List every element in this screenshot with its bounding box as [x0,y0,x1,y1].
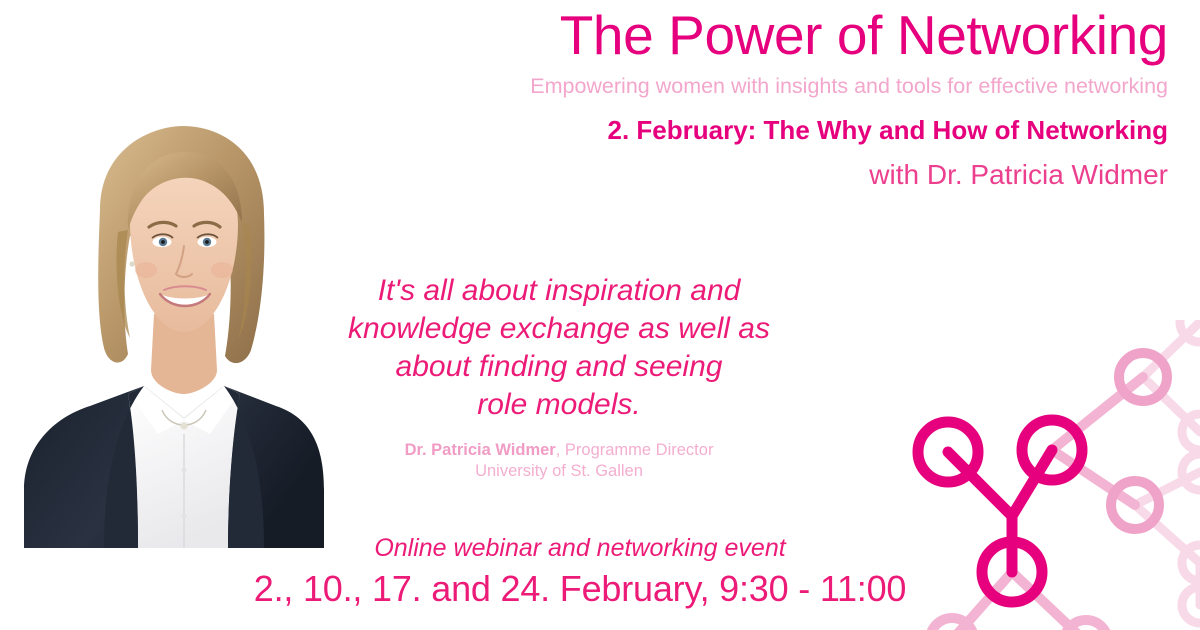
attribution-role: , Programme Director [556,441,714,459]
page-subtitle: Empowering women with insights and tools… [360,71,1168,101]
attribution-org: University of St. Gallen [328,461,790,482]
speaker-line: with Dr. Patricia Widmer [360,156,1168,194]
quote-block: It's all about inspiration and knowledge… [328,272,790,482]
header-block: The Power of Networking Empowering women… [360,4,1168,194]
speaker-portrait: Portrait of Dr. Patricia Widmer [18,118,330,548]
attribution-line-role: Dr. Patricia Widmer, Programme Director [328,440,790,461]
event-format: Online webinar and networking event [232,532,928,564]
quote-line: knowledge exchange as well as [328,310,790,348]
quote-line: role models. [328,386,790,424]
session-title: 2. February: The Why and How of Networki… [360,112,1168,148]
page-title: The Power of Networking [360,4,1168,66]
quote-line: about finding and seeing [328,348,790,386]
network-graphic [900,320,1200,630]
event-dates: 2., 10., 17. and 24. February, 9:30 - 11… [232,566,928,612]
quote-line: It's all about inspiration and [328,272,790,310]
promotional-poster: Portrait of Dr. Patricia Widmer [0,0,1200,630]
quote-text: It's all about inspiration and knowledge… [328,272,790,424]
quote-attribution: Dr. Patricia Widmer, Programme Director … [328,440,790,482]
attribution-name: Dr. Patricia Widmer [405,441,556,459]
event-details: Online webinar and networking event 2., … [232,532,928,612]
